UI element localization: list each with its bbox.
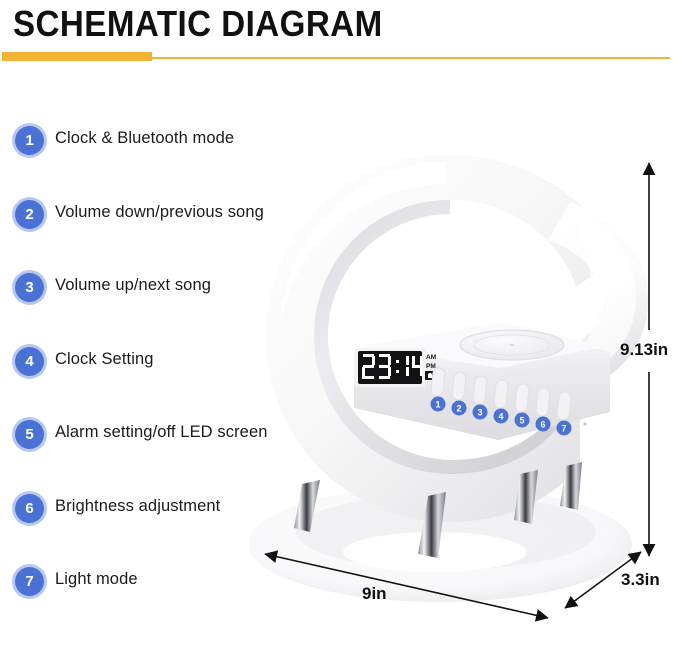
page-title: SCHEMATIC DIAGRAM [13, 2, 383, 46]
button-badge-7: 7 [557, 421, 572, 436]
legend-label-6: Brightness adjustment [55, 497, 220, 516]
legend-badge-6: 6 [15, 494, 44, 523]
product-illustration: AM PM 1 2 3 4 5 6 7 [250, 140, 650, 610]
svg-text:5: 5 [519, 416, 524, 426]
button-badge-3: 3 [473, 405, 488, 420]
wireless-charging-pad [460, 330, 564, 360]
legend-badge-3: 3 [15, 273, 44, 302]
legend-label-1: Clock & Bluetooth mode [55, 129, 234, 148]
svg-text:1: 1 [435, 400, 440, 410]
legend-label-4: Clock Setting [55, 350, 154, 369]
legend-label-5: Alarm setting/off LED screen [55, 423, 268, 442]
button-badge-6: 6 [536, 417, 551, 432]
legend-label-2: Volume down/previous song [55, 203, 264, 222]
am-indicator: AM [426, 354, 436, 361]
svg-text:2: 2 [456, 404, 461, 414]
button-badge-5: 5 [515, 413, 530, 428]
svg-text:6: 6 [540, 420, 545, 430]
led-clock-display: AM PM [354, 348, 436, 387]
button-badge-1: 1 [431, 397, 446, 412]
divider-accent-bar [2, 52, 152, 61]
button-badge-4: 4 [494, 409, 509, 424]
pm-indicator: PM [426, 363, 436, 370]
legend-label-7: Light mode [55, 570, 138, 589]
legend-badge-5: 5 [15, 420, 44, 449]
legend-badge-4: 4 [15, 347, 44, 376]
button-badge-2: 2 [452, 401, 467, 416]
header: SCHEMATIC DIAGRAM [0, 0, 679, 70]
svg-text:7: 7 [561, 424, 566, 434]
alarm-bell-icon [428, 373, 432, 378]
indicator-dot [583, 422, 586, 425]
legend-label-3: Volume up/next song [55, 276, 211, 295]
product-svg: AM PM 1 2 3 4 5 6 7 [250, 140, 650, 610]
legend-badge-2: 2 [15, 200, 44, 229]
legend-badge-7: 7 [15, 567, 44, 596]
svg-text:3: 3 [477, 408, 482, 418]
divider-thin-rule [150, 57, 670, 59]
legend-badge-1: 1 [15, 126, 44, 155]
svg-text:4: 4 [498, 412, 503, 422]
